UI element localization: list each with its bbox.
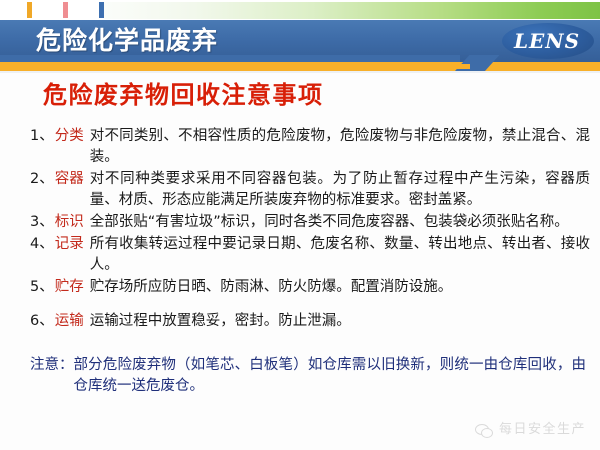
decor-tick-orange: [27, 2, 32, 18]
section-heading: 危险废弃物回收注意事项: [43, 79, 324, 111]
list-item-keyword: 分类: [55, 126, 90, 147]
list-item-text: 运输过程中放置稳妥，密封。防止泄漏。: [90, 311, 590, 332]
list-item: 1、 分类 对不同类别、不相容性质的危险废物，危险废物与非危险废物，禁止混合、混…: [30, 126, 590, 168]
list-item: 2、 容器 对不同种类要求采用不同容器包装。为了防止暂存过程中产生污染，容器质量…: [30, 169, 590, 211]
list-item-keyword: 贮存: [55, 277, 90, 298]
note-block: 注意： 部分危险废弃物（如笔芯、白板笔）如仓库需以旧换新，则统一由仓库回收，由仓…: [30, 355, 586, 397]
list-item-text: 贮存场所应防日晒、防雨淋、防火防爆。配置消防设施。: [90, 277, 590, 298]
list-item-number: 1、: [30, 126, 55, 147]
decor-green-gradient-bar: [104, 2, 600, 19]
list-item-keyword: 记录: [55, 234, 90, 255]
notice-list: 1、 分类 对不同类别、不相容性质的危险废物，危险废物与非危险废物，禁止混合、混…: [30, 126, 590, 333]
page-title: 危险化学品废弃: [36, 24, 218, 58]
wechat-icon: [475, 423, 493, 438]
list-item: 3、 标识 全部张贴“有害垃圾”标识，同时各类不同危废容器、包装袋必须张贴名称。: [30, 212, 590, 233]
list-item-text: 对不同种类要求采用不同容器包装。为了防止暂存过程中产生污染，容器质量、材质、形态…: [90, 169, 590, 211]
gold-rule-left-segment: [0, 64, 470, 69]
watermark-text: 每日安全生产: [499, 422, 586, 438]
list-item-keyword: 运输: [55, 311, 90, 332]
list-item-text: 对不同类别、不相容性质的危险废物，危险废物与非危险废物，禁止混合、混装。: [90, 126, 590, 168]
list-item-number: 3、: [30, 212, 55, 233]
list-item: 4、 记录 所有收集转运过程中要记录日期、危废名称、数量、转出地点、转出者、接收…: [30, 234, 590, 276]
note-label: 注意：: [30, 355, 74, 376]
list-item-text: 全部张贴“有害垃圾”标识，同时各类不同危废容器、包装袋必须张贴名称。: [90, 212, 590, 233]
slide-root: 危险化学品废弃 LENS 危险废弃物回收注意事项 1、 分类 对不同类别、不相容…: [0, 0, 600, 450]
list-item-text: 所有收集转运过程中要记录日期、危废名称、数量、转出地点、转出者、接收人。: [90, 234, 590, 276]
list-item-number: 6、: [30, 311, 55, 332]
watermark: 每日安全生产: [475, 422, 586, 438]
list-item-keyword: 标识: [55, 212, 90, 233]
decor-tick-pink: [63, 2, 68, 18]
list-item-number: 5、: [30, 277, 55, 298]
list-item-number: 4、: [30, 234, 55, 255]
note-text: 部分危险废弃物（如笔芯、白板笔）如仓库需以旧换新，则统一由仓库回收，由仓库统一送…: [74, 355, 587, 397]
list-item-keyword: 容器: [55, 169, 90, 190]
list-item-number: 2、: [30, 169, 55, 190]
lens-logo-text: LENS: [508, 29, 586, 53]
header-underline: [0, 71, 600, 73]
top-decor-strip: [0, 0, 600, 20]
list-item: 6、 运输 运输过程中放置稳妥，密封。防止泄漏。: [30, 311, 590, 332]
list-item: 5、 贮存 贮存场所应防日晒、防雨淋、防火防爆。配置消防设施。: [30, 277, 590, 298]
